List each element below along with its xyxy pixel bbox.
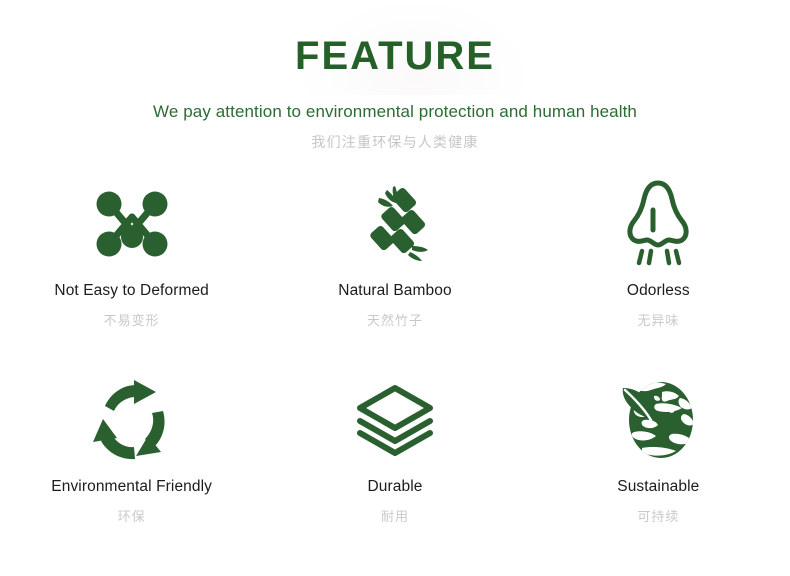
feature-label-en: Durable xyxy=(368,478,423,497)
bamboo-icon xyxy=(357,176,433,272)
feature-grid: Not Easy to Deformed 不易变形 xyxy=(0,176,790,568)
feature-item-durable: Durable 耐用 xyxy=(263,372,526,568)
feature-item-environmental-friendly: Environmental Friendly 环保 xyxy=(0,372,263,568)
feature-label-zh: 不易变形 xyxy=(104,313,160,329)
feature-label-zh: 可持续 xyxy=(637,509,679,525)
feature-label-zh: 无异味 xyxy=(637,313,679,329)
recycle-icon xyxy=(91,372,173,468)
feature-label-zh: 环保 xyxy=(118,509,146,525)
feature-item-not-easy-to-deformed: Not Easy to Deformed 不易变形 xyxy=(0,176,263,372)
feature-section: FEATURE We pay attention to environmenta… xyxy=(0,0,790,576)
feature-label-zh: 天然竹子 xyxy=(367,313,423,329)
nose-icon xyxy=(623,176,693,272)
feature-label-zh: 耐用 xyxy=(381,509,409,525)
page-title: FEATURE xyxy=(0,36,790,76)
section-header: FEATURE We pay attention to environmenta… xyxy=(0,0,790,151)
feature-item-sustainable: Sustainable 可持续 xyxy=(527,372,790,568)
feature-label-en: Sustainable xyxy=(617,478,699,497)
feature-item-natural-bamboo: Natural Bamboo 天然竹子 xyxy=(263,176,526,372)
feature-label-en: Not Easy to Deformed xyxy=(54,282,208,301)
molecule-nodes-icon xyxy=(93,176,171,272)
feature-item-odorless: Odorless 无异味 xyxy=(527,176,790,372)
subtitle-chinese: 我们注重环保与人类健康 xyxy=(0,134,790,151)
globe-leaf-icon xyxy=(618,372,698,468)
layers-stack-icon xyxy=(352,372,438,468)
feature-label-en: Natural Bamboo xyxy=(338,282,451,301)
feature-label-en: Environmental Friendly xyxy=(51,478,212,497)
feature-label-en: Odorless xyxy=(627,282,690,301)
subtitle-english: We pay attention to environmental protec… xyxy=(0,102,790,122)
